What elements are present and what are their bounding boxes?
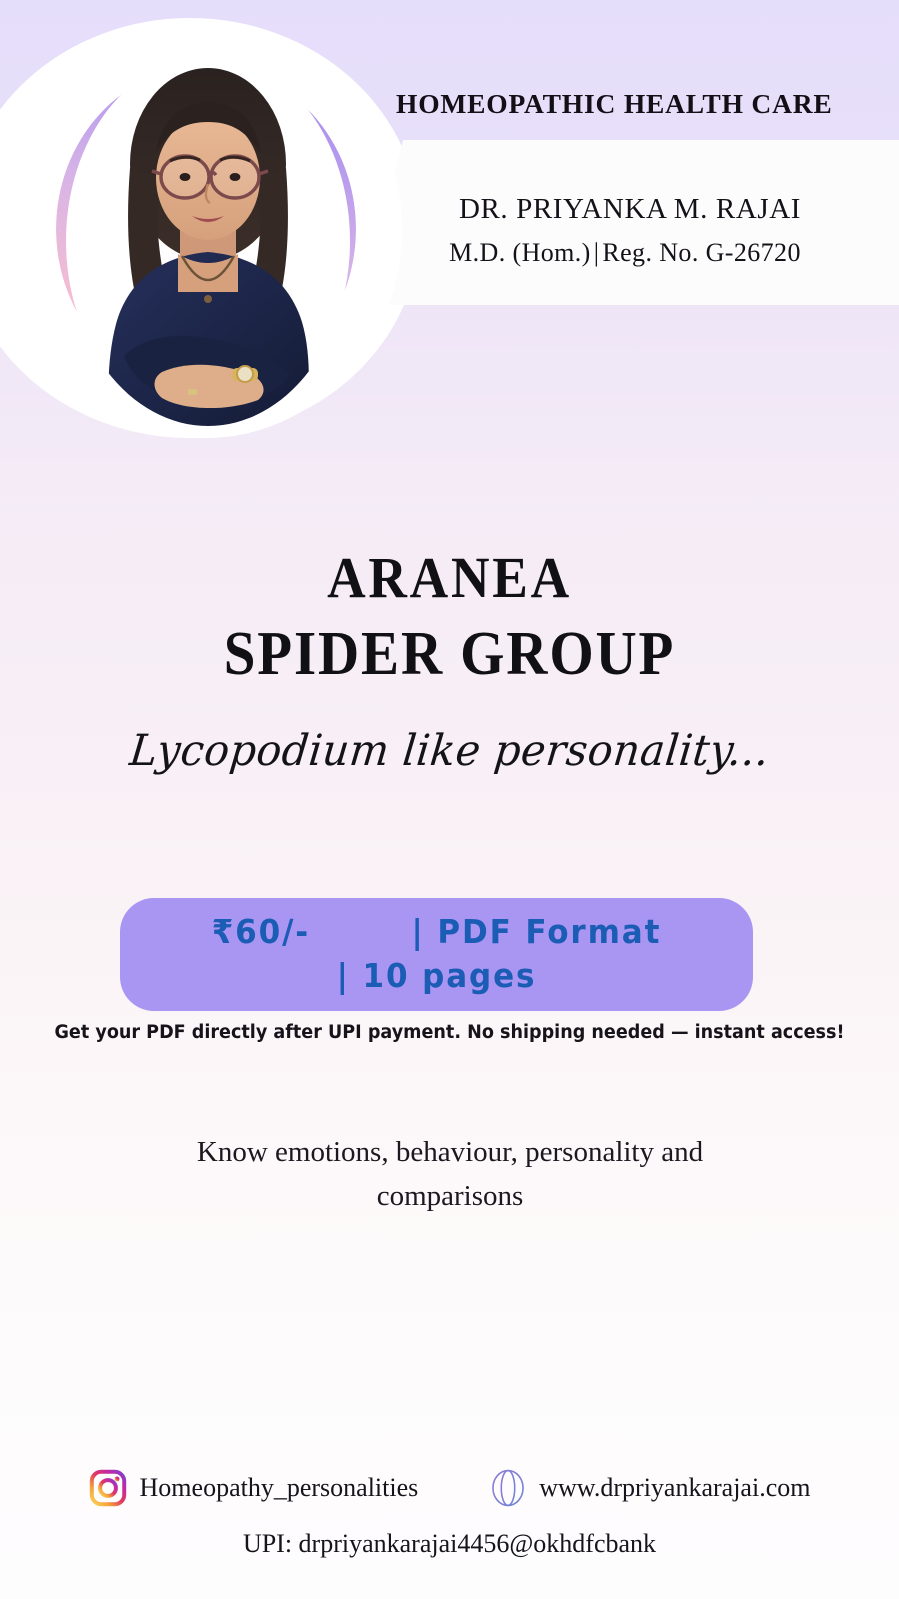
website-contact[interactable]: www.drpriyankarajai.com xyxy=(490,1469,810,1507)
description-line-1: Know emotions, behaviour, personality an… xyxy=(197,1136,703,1168)
price-banner-row-1: ₹60/- | PDF Format xyxy=(139,912,734,951)
doctor-degree: M.D. (Hom.) xyxy=(449,238,591,267)
doctor-credentials: M.D. (Hom.)|Reg. No. G-26720 xyxy=(370,238,880,268)
instagram-contact[interactable]: Homeopathy_personalities xyxy=(89,1469,419,1507)
format-label: | PDF Format xyxy=(412,912,662,951)
pages-label: | 10 pages xyxy=(337,956,537,995)
brand-title: HOMEOPATHIC HEALTH CARE xyxy=(396,88,886,120)
poster-header: HOMEOPATHIC HEALTH CARE DR. PRIYANKA M. … xyxy=(0,0,899,455)
doctor-name: DR. PRIYANKA M. RAJAI xyxy=(380,193,880,226)
script-subtitle: Lycopodium like personality... xyxy=(15,726,883,776)
price-value: ₹60/- xyxy=(212,912,310,951)
website-url: www.drpriyankarajai.com xyxy=(539,1473,810,1503)
doctor-registration: Reg. No. G-26720 xyxy=(602,238,801,267)
title-line-2: SPIDER GROUP xyxy=(36,616,863,692)
globe-icon xyxy=(490,1469,526,1507)
title-line-1: ARANEA xyxy=(36,540,863,616)
avatar xyxy=(10,20,402,438)
poster-footer: Homeopathy_personalities xyxy=(0,1455,899,1599)
credentials-separator: | xyxy=(591,238,603,267)
description-line-2: comparisons xyxy=(377,1180,524,1212)
instagram-icon xyxy=(89,1469,127,1507)
promo-poster: HOMEOPATHIC HEALTH CARE DR. PRIYANKA M. … xyxy=(0,0,899,1599)
doctor-portrait-photo xyxy=(66,56,350,426)
price-banner[interactable]: ₹60/- | PDF Format | 10 pages xyxy=(120,898,753,1011)
page-title: ARANEA SPIDER GROUP xyxy=(36,540,863,692)
instant-access-note: Get your PDF directly after UPI payment.… xyxy=(22,1022,876,1043)
upi-id: UPI: drpriyankarajai4456@okhdfcbank xyxy=(0,1529,899,1559)
footer-contact-row: Homeopathy_personalities xyxy=(0,1469,899,1507)
description: Know emotions, behaviour, personality an… xyxy=(150,1130,750,1218)
instagram-handle: Homeopathy_personalities xyxy=(140,1473,419,1503)
price-banner-row-2: | 10 pages xyxy=(139,956,734,995)
